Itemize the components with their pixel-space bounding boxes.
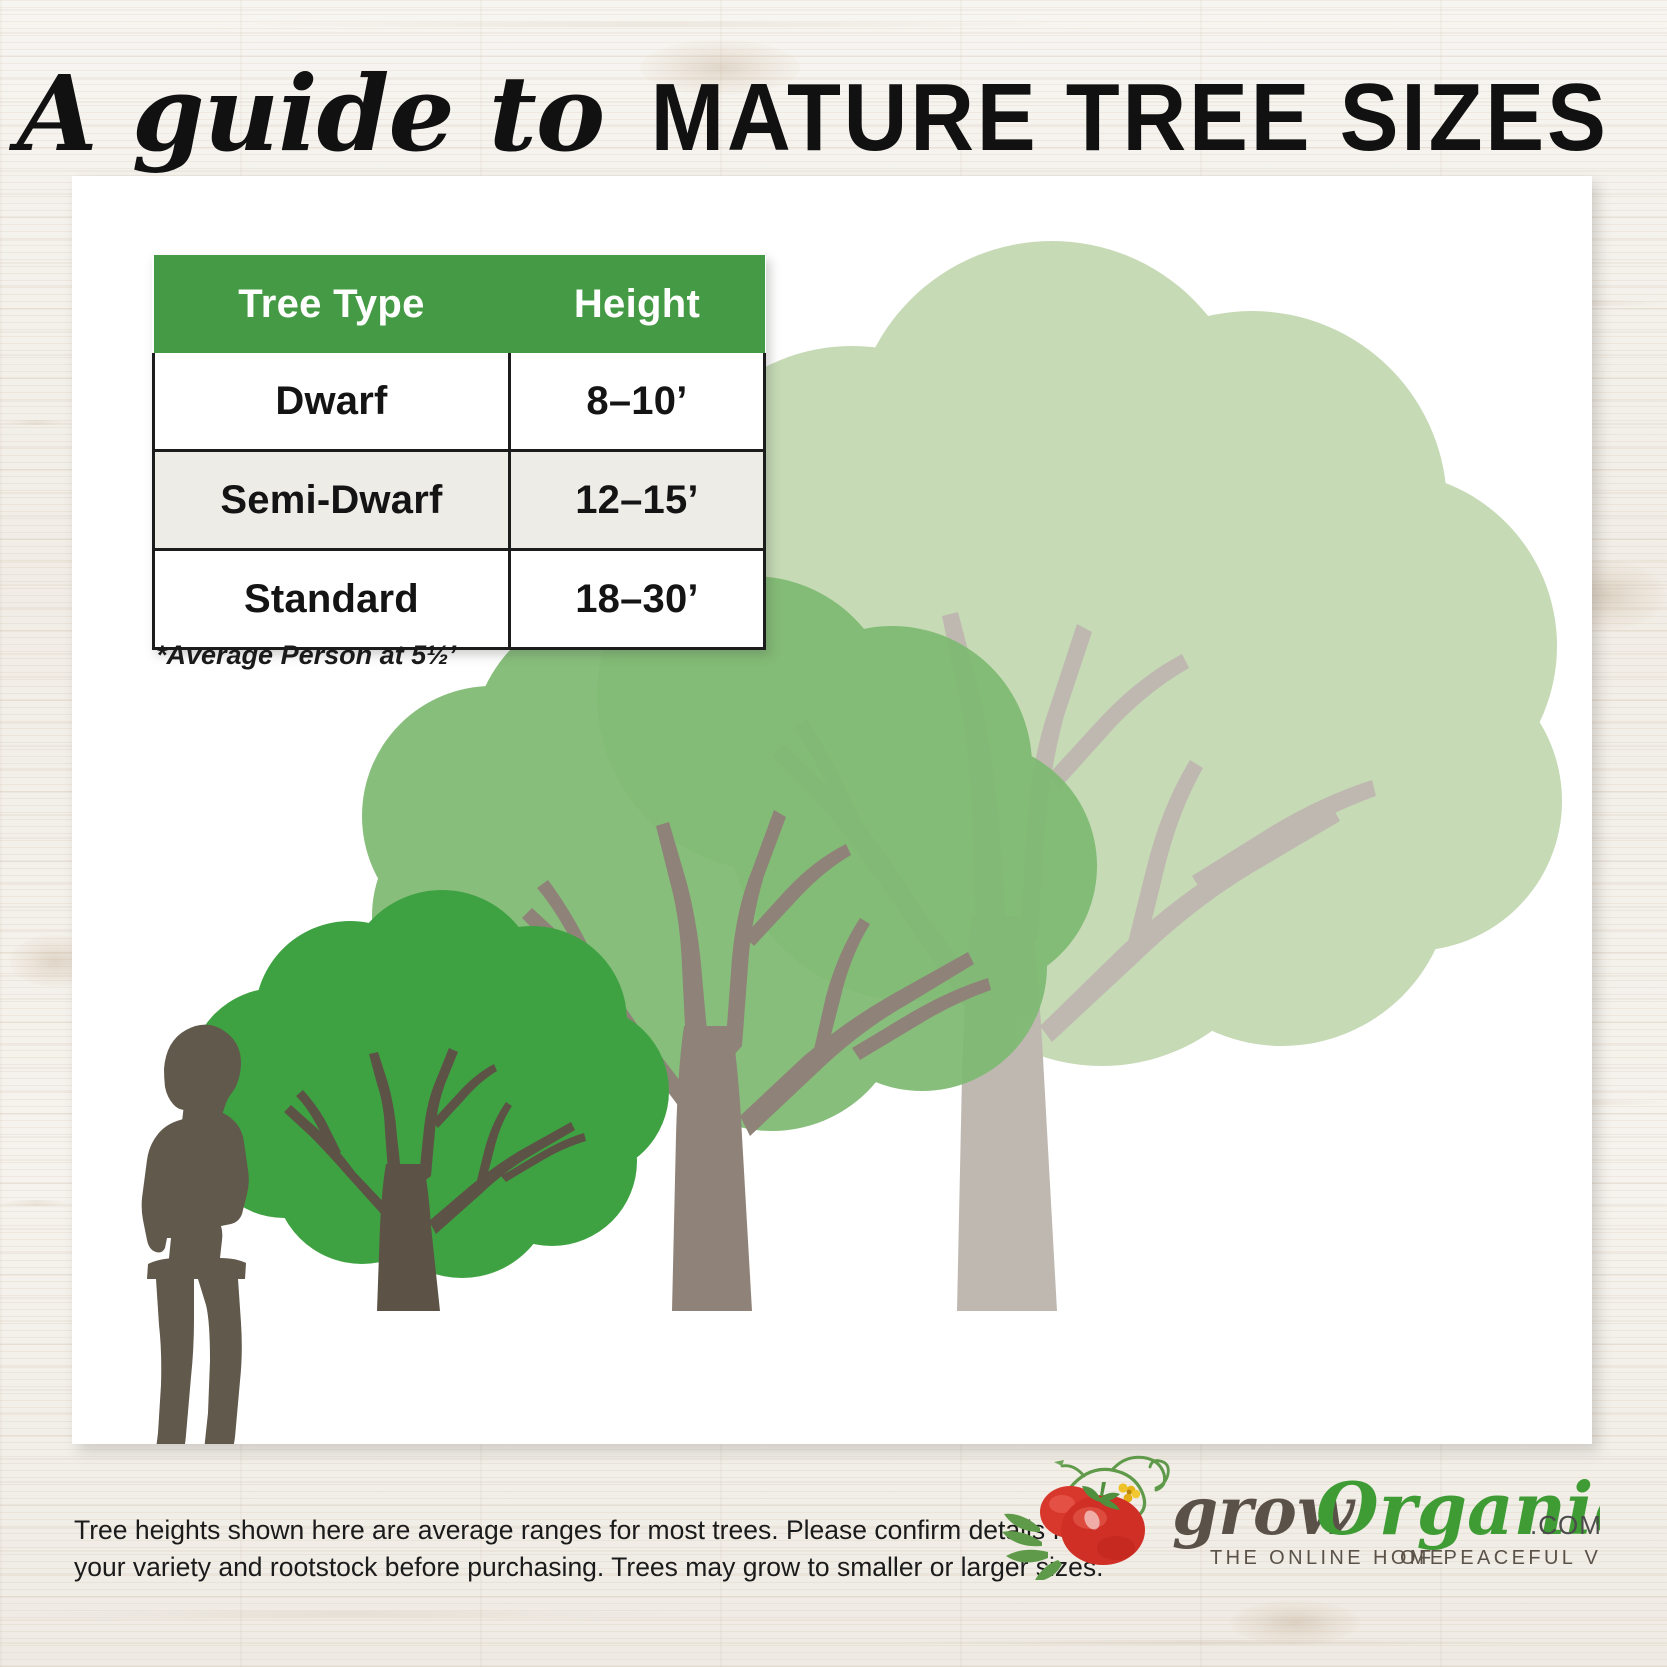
column-header-height: Height bbox=[509, 255, 764, 353]
page-title: A guide to MATURE TREE SIZES bbox=[0, 52, 1667, 175]
logo-word-dotcom: .COM bbox=[1530, 1510, 1600, 1540]
footer-line-1: Tree heights shown here are average rang… bbox=[74, 1512, 964, 1549]
table-row: Dwarf 8–10’ bbox=[154, 353, 765, 451]
cell-tree-type: Dwarf bbox=[154, 353, 510, 451]
dwarf-tree bbox=[189, 890, 669, 1311]
footer-disclaimer: Tree heights shown here are average rang… bbox=[74, 1512, 964, 1586]
title-script-part: A guide to bbox=[17, 52, 604, 175]
table-row: Semi-Dwarf 12–15’ bbox=[154, 451, 765, 550]
tree-size-table: Tree Type Height Dwarf 8–10’ Semi-Dwarf … bbox=[152, 255, 766, 650]
title-caps-part: MATURE TREE SIZES bbox=[650, 63, 1608, 173]
column-header-tree-type: Tree Type bbox=[154, 255, 510, 353]
cell-height: 12–15’ bbox=[509, 451, 764, 550]
table-row: Standard 18–30’ bbox=[154, 550, 765, 649]
table-header-row: Tree Type Height bbox=[154, 255, 765, 353]
infographic-stage: A guide to MATURE TREE SIZES Tree Type H… bbox=[0, 0, 1667, 1667]
tomato-icon bbox=[1002, 1482, 1145, 1580]
grow-organic-logo[interactable]: grow Organic .COM THE ONLINE HOME OF PEA… bbox=[1000, 1430, 1600, 1580]
table-footnote: *Average Person at 5½’ bbox=[156, 640, 456, 671]
logo-tagline-right: OF PEACEFUL VALLEY bbox=[1400, 1547, 1600, 1569]
footer-line-2: your variety and rootstock before purcha… bbox=[74, 1549, 964, 1586]
average-person-silhouette bbox=[142, 1025, 249, 1444]
cell-tree-type: Semi-Dwarf bbox=[154, 451, 510, 550]
cell-height: 18–30’ bbox=[509, 550, 764, 649]
cell-tree-type: Standard bbox=[154, 550, 510, 649]
cell-height: 8–10’ bbox=[509, 353, 764, 451]
